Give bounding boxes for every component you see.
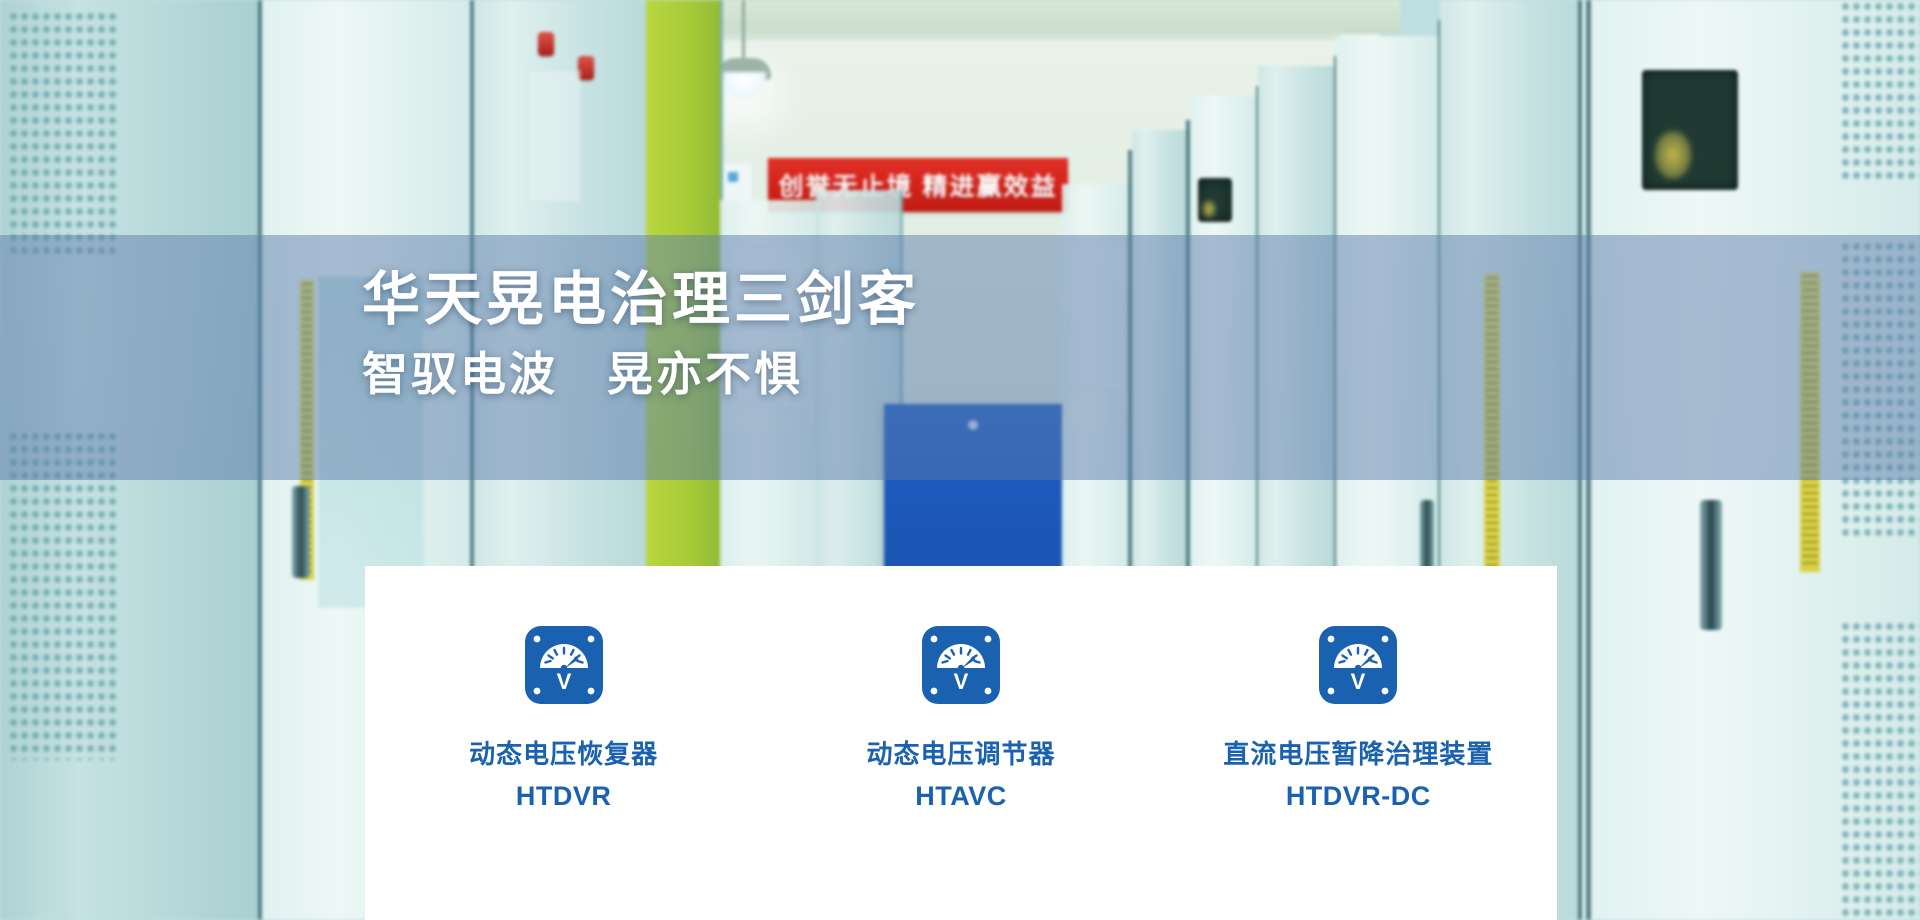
svg-text:V: V xyxy=(556,669,571,694)
page-title: 华天晃电治理三剑客 xyxy=(362,268,1362,333)
voltmeter-gauge-icon: V xyxy=(922,626,1000,704)
product-code: HTDVR xyxy=(516,781,612,812)
product-card-panel: V 动态电压恢复器 HTDVR xyxy=(365,566,1557,920)
product-name: 动态电压调节器 xyxy=(866,738,1055,771)
lamp-cord xyxy=(742,0,745,62)
cabinet-handle xyxy=(292,486,310,578)
product-item-htavc[interactable]: V 动态电压调节器 HTAVC xyxy=(762,626,1159,812)
hero-text-block: 华天晃电治理三剑客 智驭电波 晃亦不惧 xyxy=(362,268,1362,402)
cabinet-handle xyxy=(1700,500,1722,630)
product-item-htdvr-dc[interactable]: V 直流电压暂降治理装置 HTDVR-DC xyxy=(1160,626,1557,812)
cabinet-panel xyxy=(527,70,581,202)
product-name: 直流电压暂降治理装置 xyxy=(1223,738,1493,771)
voltmeter-gauge-icon: V xyxy=(1319,626,1397,704)
cabinet-vent xyxy=(8,10,120,260)
product-code: HTDVR-DC xyxy=(1286,781,1431,812)
cabinet-vent xyxy=(1840,0,1920,180)
product-item-htdvr[interactable]: V 动态电压恢复器 HTDVR xyxy=(365,626,762,812)
cabinet-window xyxy=(1640,68,1740,192)
hero-banner: 创誉无止境 精进赢效益 xyxy=(0,0,1920,920)
product-name: 动态电压恢复器 xyxy=(469,738,658,771)
cabinet-window xyxy=(1196,176,1234,224)
svg-text:V: V xyxy=(954,669,969,694)
voltmeter-gauge-icon: V xyxy=(525,626,603,704)
product-list: V 动态电压恢复器 HTDVR xyxy=(365,566,1557,920)
cabinet-indicator-button xyxy=(538,32,554,56)
page-subtitle: 智驭电波 晃亦不惧 xyxy=(362,347,1362,402)
product-code: HTAVC xyxy=(915,781,1007,812)
svg-text:V: V xyxy=(1351,669,1366,694)
cabinet-vent xyxy=(1840,620,1920,920)
